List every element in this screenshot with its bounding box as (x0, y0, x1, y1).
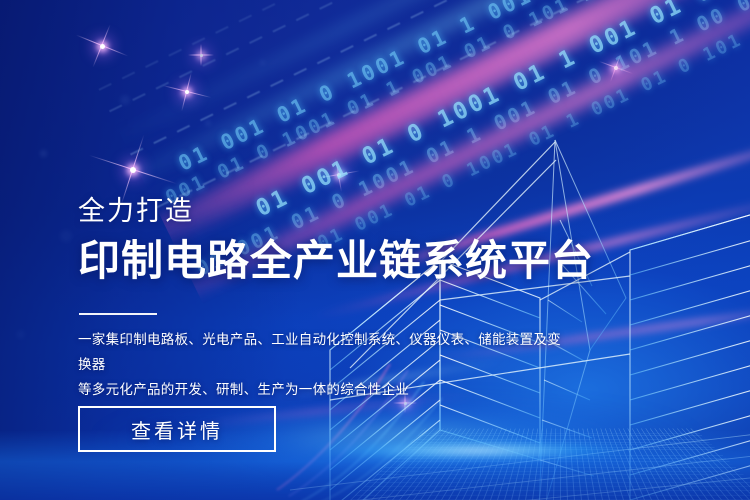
dust-mote (16, 330, 25, 339)
page-title: 印制电路全产业链系统平台 (78, 238, 594, 283)
title-divider (79, 313, 157, 315)
hero-banner: 01 001 01 0 1001 01 1 001 01 0 101 1 00 … (0, 0, 750, 500)
view-details-button[interactable]: 查看详情 (78, 406, 276, 452)
subtitle-text: 一家集印制电路板、光电产品、工业自动化控制系统、仪器仪表、储能装置及变换器 等多… (78, 327, 570, 402)
subtitle-line-2: 等多元化产品的开发、研制、生产为一体的综合性企业 (78, 377, 570, 402)
dust-mote (60, 230, 72, 242)
subtitle-line-1: 一家集印制电路板、光电产品、工业自动化控制系统、仪器仪表、储能装置及变换器 (78, 327, 570, 377)
dust-mote (40, 150, 47, 157)
eyebrow-text: 全力打造 (78, 198, 194, 225)
hero-content: 全力打造 印制电路全产业链系统平台 一家集印制电路板、光电产品、工业自动化控制系… (78, 0, 678, 500)
